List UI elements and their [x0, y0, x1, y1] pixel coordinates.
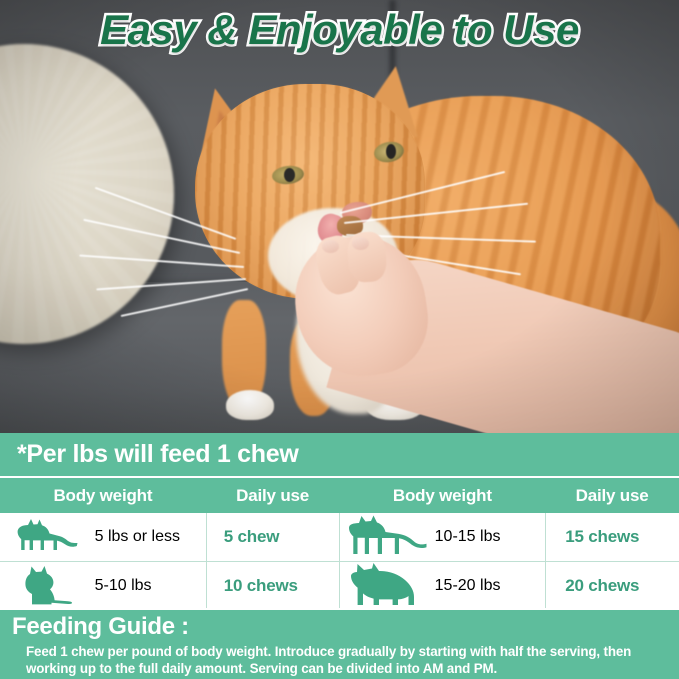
sitting-cat-icon	[0, 566, 95, 606]
value-body-weight-left: 5 lbs or less	[95, 528, 206, 546]
value-body-weight-right: 10-15 lbs	[435, 528, 546, 546]
table-header-row: Body weight Daily use Body weight Daily …	[0, 476, 679, 513]
per-lbs-banner: *Per lbs will feed 1 chew	[0, 433, 679, 476]
col-header-body-weight-left: Body weight	[0, 478, 206, 513]
value-daily-use-left: 5 chew	[206, 513, 340, 561]
hero-photo	[0, 0, 679, 433]
cell-body-weight-left: 5 lbs or less	[0, 513, 206, 561]
col-header-daily-use-right: Daily use	[545, 478, 679, 513]
fluffy-large-cat-icon	[340, 563, 434, 609]
table-row: 5-10 lbs 10 chews 15-20 lbs 20 chews	[0, 561, 679, 610]
cell-body-weight-left: 5-10 lbs	[0, 562, 206, 610]
col-header-daily-use-left: Daily use	[206, 478, 340, 513]
col-header-body-weight-right: Body weight	[339, 478, 545, 513]
value-daily-use-left: 10 chews	[206, 562, 340, 610]
feeding-guide-section: Feeding Guide : Feed 1 chew per pound of…	[0, 608, 679, 679]
cell-body-weight-right: 10-15 lbs	[339, 513, 545, 561]
value-body-weight-right: 15-20 lbs	[435, 577, 546, 595]
feeding-table: Body weight Daily use Body weight Daily …	[0, 476, 679, 610]
value-body-weight-left: 5-10 lbs	[95, 577, 206, 595]
product-infographic: Easy & Enjoyable to Use *Per lbs will fe…	[0, 0, 679, 679]
banner-label: *Per lbs will feed 1 chew	[0, 440, 299, 469]
table-row: 5 lbs or less 5 chew 10-15 lbs 15 chews	[0, 513, 679, 561]
page-title: Easy & Enjoyable to Use	[0, 6, 679, 54]
value-daily-use-right: 20 chews	[545, 562, 679, 610]
standing-cat-icon	[340, 515, 434, 559]
photo-vignette	[0, 0, 679, 433]
feeding-guide-title: Feeding Guide :	[0, 610, 679, 641]
small-prowling-cat-icon	[0, 519, 95, 555]
feeding-guide-text: Feed 1 chew per pound of body weight. In…	[0, 641, 679, 677]
cell-body-weight-right: 15-20 lbs	[339, 562, 545, 610]
value-daily-use-right: 15 chews	[545, 513, 679, 561]
